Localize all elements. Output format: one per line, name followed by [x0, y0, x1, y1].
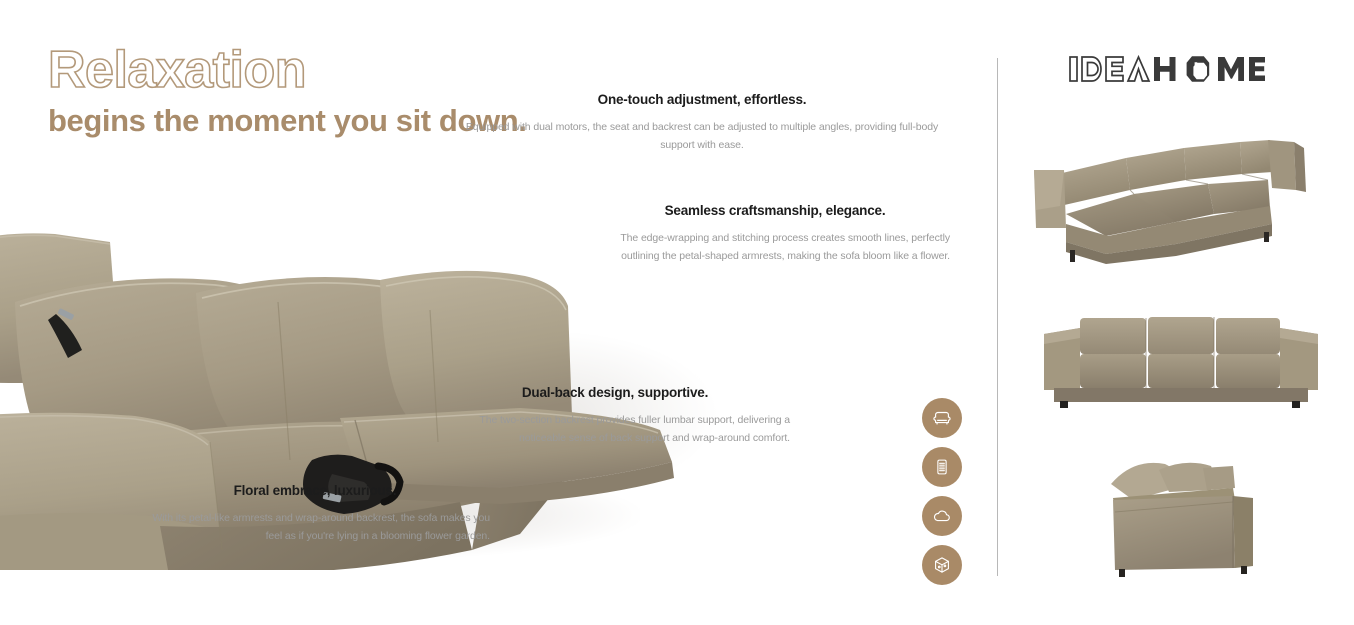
- feature-seamless-craftsmanship: Seamless craftsmanship, elegance. The ed…: [600, 203, 950, 265]
- badge-armchair[interactable]: [922, 398, 962, 438]
- feature-heading: Seamless craftsmanship, elegance.: [600, 203, 950, 219]
- page-title: Relaxation: [48, 44, 526, 96]
- cloud-icon: [931, 505, 953, 527]
- panel-divider: [997, 58, 998, 576]
- feature-heading: One-touch adjustment, effortless.: [452, 92, 952, 108]
- feature-dual-back-design: Dual-back design, supportive. The two-se…: [440, 385, 790, 447]
- left-content-panel: Relaxation begins the moment you sit dow…: [0, 0, 997, 625]
- right-product-panel: [998, 0, 1354, 625]
- feature-body: The edge-wrapping and stitching process …: [600, 230, 950, 265]
- product-marketing-page: Relaxation begins the moment you sit dow…: [0, 0, 1354, 625]
- feature-body: The two-section backrest provides fuller…: [440, 412, 790, 447]
- cube-icon: [931, 554, 953, 576]
- feature-body: With its petal-like armrests and wrap-ar…: [140, 510, 490, 545]
- feature-one-touch-adjustment: One-touch adjustment, effortless. Equipp…: [452, 92, 952, 154]
- feature-badge-list: [922, 398, 962, 594]
- feature-heading: Floral embrace, luxurious.: [140, 483, 490, 499]
- feature-body: Equipped with dual motors, the seat and …: [452, 119, 952, 154]
- feature-floral-embrace: Floral embrace, luxurious. With its peta…: [140, 483, 490, 545]
- brand-logo: [1068, 52, 1266, 86]
- product-view-angled[interactable]: [1018, 118, 1328, 283]
- badge-cube[interactable]: [922, 545, 962, 585]
- feature-heading: Dual-back design, supportive.: [440, 385, 790, 401]
- product-view-front[interactable]: [1036, 298, 1326, 418]
- product-view-side[interactable]: [1093, 440, 1318, 590]
- badge-mattress[interactable]: [922, 447, 962, 487]
- badge-cloud[interactable]: [922, 496, 962, 536]
- armchair-icon: [931, 407, 953, 429]
- mattress-icon: [931, 456, 953, 478]
